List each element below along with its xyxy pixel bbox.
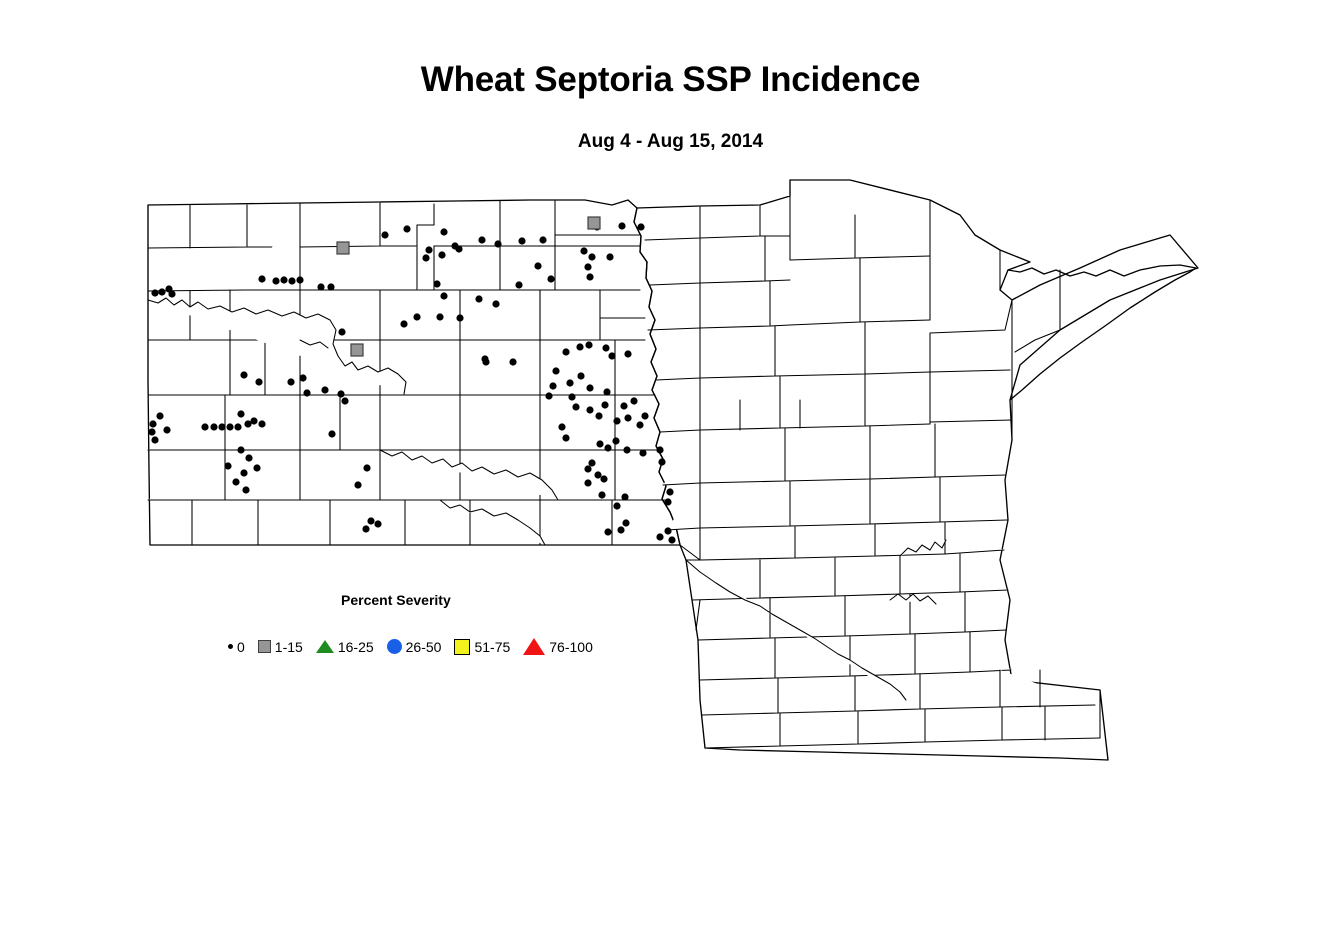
data-point-severity-0[interactable]: [494, 240, 501, 247]
data-point-severity-0[interactable]: [539, 236, 546, 243]
data-point-severity-0[interactable]: [456, 314, 463, 321]
data-point-severity-0[interactable]: [327, 283, 334, 290]
data-point-severity-0[interactable]: [666, 488, 673, 495]
data-point-severity-0[interactable]: [584, 465, 591, 472]
data-point-severity-0[interactable]: [242, 486, 249, 493]
data-point-severity-0[interactable]: [163, 426, 170, 433]
data-point-severity-0[interactable]: [602, 344, 609, 351]
data-point-severity-1-15[interactable]: [337, 242, 349, 254]
data-point-severity-0[interactable]: [288, 277, 295, 284]
data-point-severity-0[interactable]: [562, 348, 569, 355]
data-point-severity-0[interactable]: [586, 273, 593, 280]
map-page: Wheat Septoria SSP Incidence Aug 4 - Aug…: [0, 0, 1341, 926]
data-point-severity-0[interactable]: [604, 528, 611, 535]
map-svg: [0, 0, 1341, 926]
data-point-severity-0[interactable]: [577, 372, 584, 379]
data-point-severity-0[interactable]: [586, 384, 593, 391]
data-point-severity-0[interactable]: [549, 382, 556, 389]
data-point-severity-0[interactable]: [210, 423, 217, 430]
data-point-severity-0[interactable]: [232, 478, 239, 485]
data-point-severity-0[interactable]: [272, 277, 279, 284]
data-point-severity-0[interactable]: [374, 520, 381, 527]
data-point-severity-0[interactable]: [436, 313, 443, 320]
data-point-severity-0[interactable]: [255, 378, 262, 385]
data-point-severity-0[interactable]: [156, 412, 163, 419]
data-point-severity-0[interactable]: [240, 469, 247, 476]
data-point-severity-0[interactable]: [594, 471, 601, 478]
map-figure: [0, 0, 1341, 926]
data-point-severity-0[interactable]: [218, 423, 225, 430]
data-point-severity-0[interactable]: [250, 417, 257, 424]
data-point-severity-0[interactable]: [400, 320, 407, 327]
data-point-severity-0[interactable]: [576, 343, 583, 350]
data-point-severity-0[interactable]: [240, 371, 247, 378]
data-point-severity-0[interactable]: [433, 280, 440, 287]
data-point-severity-0[interactable]: [440, 292, 447, 299]
data-point-severity-0[interactable]: [603, 388, 610, 395]
data-point-severity-0[interactable]: [475, 295, 482, 302]
data-point-severity-0[interactable]: [552, 367, 559, 374]
data-point-severity-1-15[interactable]: [588, 217, 600, 229]
data-point-severity-0[interactable]: [658, 458, 665, 465]
data-point-severity-0[interactable]: [572, 403, 579, 410]
data-point-severity-0[interactable]: [317, 283, 324, 290]
data-point-severity-0[interactable]: [618, 222, 625, 229]
data-point-severity-0[interactable]: [613, 417, 620, 424]
data-point-severity-0[interactable]: [201, 423, 208, 430]
data-point-severity-0[interactable]: [601, 401, 608, 408]
data-point-severity-0[interactable]: [226, 423, 233, 430]
data-point-severity-0[interactable]: [595, 412, 602, 419]
data-point-severity-0[interactable]: [338, 328, 345, 335]
data-point-severity-0[interactable]: [148, 428, 155, 435]
data-point-severity-0[interactable]: [584, 479, 591, 486]
data-point-severity-0[interactable]: [656, 446, 663, 453]
data-point-severity-0[interactable]: [534, 262, 541, 269]
data-point-severity-0[interactable]: [482, 358, 489, 365]
data-point-severity-0[interactable]: [362, 525, 369, 532]
data-point-severity-0[interactable]: [600, 475, 607, 482]
data-point-severity-0[interactable]: [617, 526, 624, 533]
data-point-severity-0[interactable]: [237, 410, 244, 417]
data-point-severity-0[interactable]: [224, 462, 231, 469]
data-point-severity-0[interactable]: [337, 390, 344, 397]
minnesota-counties: [634, 180, 1198, 760]
data-point-severity-1-15[interactable]: [351, 344, 363, 356]
data-point-severity-0[interactable]: [620, 402, 627, 409]
data-point-severity-0[interactable]: [624, 350, 631, 357]
data-point-severity-0[interactable]: [149, 420, 156, 427]
data-point-severity-0[interactable]: [492, 300, 499, 307]
data-point-severity-0[interactable]: [639, 449, 646, 456]
data-point-severity-0[interactable]: [612, 437, 619, 444]
data-point-severity-0[interactable]: [558, 423, 565, 430]
data-point-severity-0[interactable]: [425, 246, 432, 253]
data-point-severity-0[interactable]: [637, 223, 644, 230]
data-point-severity-0[interactable]: [440, 228, 447, 235]
data-point-severity-0[interactable]: [584, 263, 591, 270]
data-point-severity-0[interactable]: [588, 253, 595, 260]
data-point-severity-0[interactable]: [478, 236, 485, 243]
data-point-severity-0[interactable]: [664, 527, 671, 534]
data-point-severity-0[interactable]: [566, 379, 573, 386]
data-point-severity-0[interactable]: [588, 459, 595, 466]
data-point-severity-0[interactable]: [547, 275, 554, 282]
data-point-severity-0[interactable]: [580, 247, 587, 254]
data-point-severity-0[interactable]: [455, 245, 462, 252]
data-point-severity-0[interactable]: [258, 420, 265, 427]
data-point-severity-0[interactable]: [151, 289, 158, 296]
data-point-severity-0[interactable]: [545, 392, 552, 399]
data-point-severity-0[interactable]: [341, 397, 348, 404]
data-point-severity-0[interactable]: [630, 397, 637, 404]
data-point-severity-0[interactable]: [656, 533, 663, 540]
data-point-severity-0[interactable]: [303, 389, 310, 396]
data-point-severity-0[interactable]: [237, 446, 244, 453]
data-point-severity-0[interactable]: [586, 406, 593, 413]
data-point-severity-0[interactable]: [518, 237, 525, 244]
data-point-severity-0[interactable]: [664, 498, 671, 505]
data-point-severity-0[interactable]: [287, 378, 294, 385]
data-point-severity-0[interactable]: [363, 464, 370, 471]
data-point-severity-0[interactable]: [258, 275, 265, 282]
data-point-severity-0[interactable]: [321, 386, 328, 393]
data-point-severity-0[interactable]: [367, 517, 374, 524]
data-point-severity-0[interactable]: [622, 519, 629, 526]
data-point-severity-0[interactable]: [296, 276, 303, 283]
data-point-severity-0[interactable]: [413, 313, 420, 320]
data-point-severity-0[interactable]: [234, 423, 241, 430]
data-point-severity-0[interactable]: [598, 491, 605, 498]
data-point-severity-0[interactable]: [245, 454, 252, 461]
data-point-severity-0[interactable]: [280, 276, 287, 283]
data-point-severity-0[interactable]: [158, 288, 165, 295]
data-point-severity-0[interactable]: [328, 430, 335, 437]
data-point-severity-0[interactable]: [636, 421, 643, 428]
data-point-severity-0[interactable]: [608, 352, 615, 359]
data-point-severity-0[interactable]: [568, 393, 575, 400]
data-point-severity-0[interactable]: [562, 434, 569, 441]
data-point-severity-0[interactable]: [606, 253, 613, 260]
data-point-severity-0[interactable]: [381, 231, 388, 238]
data-point-severity-0[interactable]: [403, 225, 410, 232]
data-point-severity-0[interactable]: [585, 341, 592, 348]
data-point-severity-0[interactable]: [438, 251, 445, 258]
data-point-severity-0[interactable]: [604, 444, 611, 451]
data-point-severity-0[interactable]: [515, 281, 522, 288]
data-point-severity-0[interactable]: [596, 440, 603, 447]
data-point-severity-0[interactable]: [621, 493, 628, 500]
data-point-severity-0[interactable]: [641, 412, 648, 419]
data-point-severity-0[interactable]: [668, 536, 675, 543]
data-point-severity-0[interactable]: [168, 290, 175, 297]
data-point-severity-0[interactable]: [422, 254, 429, 261]
data-point-severity-0[interactable]: [354, 481, 361, 488]
data-point-severity-0[interactable]: [151, 436, 158, 443]
data-point-severity-0[interactable]: [613, 502, 620, 509]
data-point-severity-0[interactable]: [299, 374, 306, 381]
data-point-severity-0[interactable]: [623, 446, 630, 453]
data-point-severity-0[interactable]: [624, 414, 631, 421]
data-point-severity-0[interactable]: [509, 358, 516, 365]
data-point-severity-0[interactable]: [253, 464, 260, 471]
